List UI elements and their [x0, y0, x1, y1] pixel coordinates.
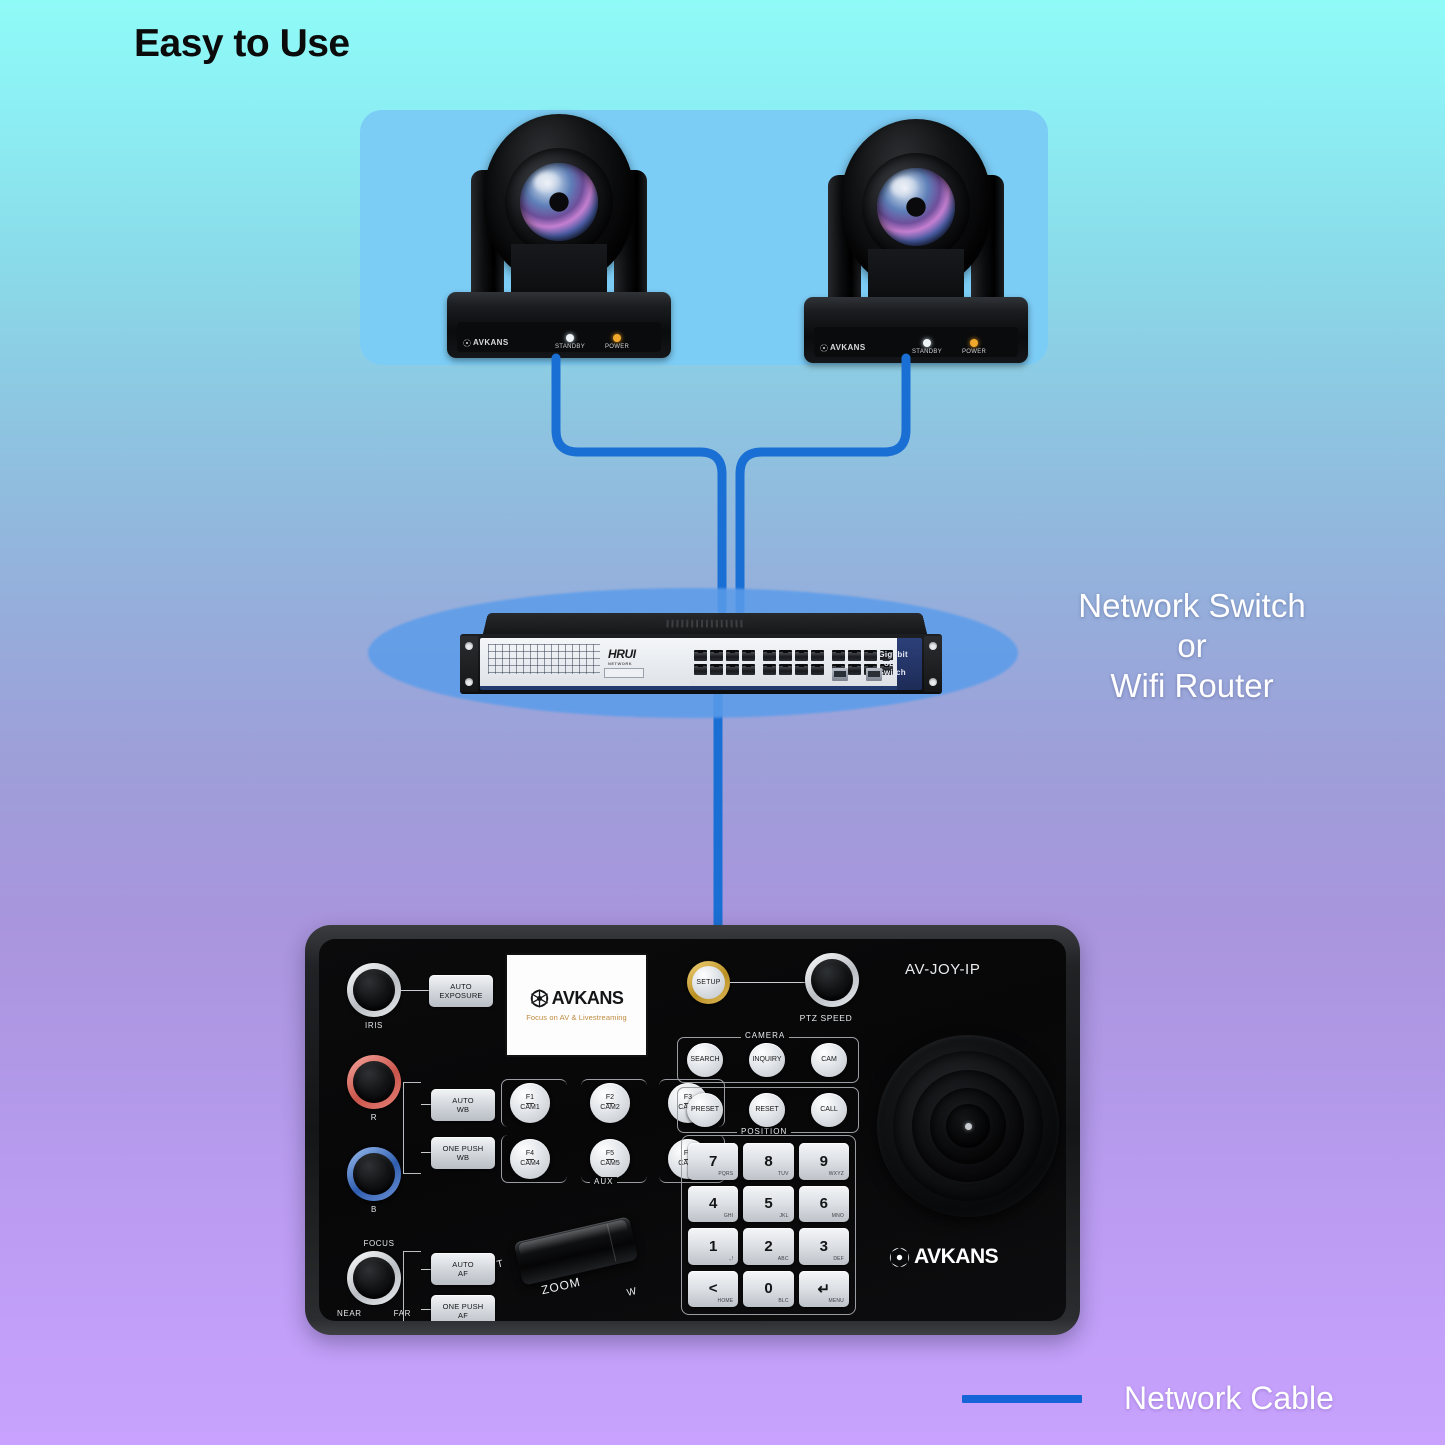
rj45-port[interactable] [694, 664, 707, 675]
knob-cap[interactable] [353, 1257, 395, 1299]
blue-gain-knob-group[interactable]: B [347, 1147, 401, 1214]
red-gain-knob-group[interactable]: R [347, 1055, 401, 1122]
switch-port-bank-2[interactable] [759, 638, 828, 690]
key-sublabel: WXYZ [829, 1171, 844, 1177]
btn-line-1: ONE PUSH [443, 1144, 484, 1153]
btn-line-1: AUTO [450, 982, 472, 991]
auto-af-button[interactable]: AUTO AF [431, 1253, 495, 1285]
key-digit: 3 [820, 1238, 828, 1255]
btn-line-2: WB [457, 1153, 469, 1162]
fn-den: CAM2 [600, 1104, 619, 1113]
fn-num: F1 [526, 1094, 534, 1104]
numeric-keypad[interactable]: 7PQRS 8TUV 9WXYZ 4GHI 5JKL 6MNO 1.,! 2AB… [681, 1135, 856, 1315]
reset-button[interactable]: RESET [749, 1093, 785, 1127]
function-button-f1[interactable]: F1 CAM1 [510, 1083, 550, 1123]
ptz-speed-label: PTZ SPEED [771, 1013, 881, 1023]
switch-port-bank-1[interactable] [690, 638, 759, 690]
rj45-port[interactable] [848, 650, 861, 661]
key-sublabel: JKL [779, 1213, 788, 1219]
key-9[interactable]: 9WXYZ [799, 1143, 849, 1180]
cam-button[interactable]: CAM [811, 1043, 847, 1077]
port-column[interactable] [694, 650, 707, 675]
key-2[interactable]: 2ABC [743, 1228, 793, 1265]
switch-led-matrix [488, 644, 600, 674]
key-sublabel: PQRS [718, 1171, 733, 1177]
key-sublabel: HOME [718, 1298, 734, 1304]
rj45-port[interactable] [795, 664, 808, 675]
btn-line-1: AUTO [452, 1260, 474, 1269]
camera-group-label: CAMERA [741, 1031, 789, 1040]
fn-num: F2 [606, 1094, 614, 1104]
iris-knob[interactable] [347, 963, 401, 1017]
rj45-port[interactable] [710, 650, 723, 661]
key-7[interactable]: 7PQRS [688, 1143, 738, 1180]
switch-rack-ear-right [924, 636, 942, 692]
call-button[interactable]: CALL [811, 1093, 847, 1127]
function-button-f5[interactable]: F5 CAM5 [590, 1139, 630, 1179]
switch-front-panel: HRUI NETWORK [480, 638, 922, 690]
key-sublabel: BLC [778, 1298, 788, 1304]
key-digit: < [709, 1280, 718, 1297]
auto-exposure-button[interactable]: AUTO EXPOSURE [429, 975, 493, 1007]
aperture-icon [530, 989, 549, 1008]
knob-cap[interactable] [353, 1153, 395, 1195]
lcd-brand-text: AVKANS [552, 988, 624, 1009]
rj45-port[interactable] [726, 664, 739, 675]
blue-gain-knob[interactable] [347, 1147, 401, 1201]
joystick-center-dot[interactable] [965, 1123, 972, 1130]
controller-brand-logo: AVKANS [889, 1245, 998, 1269]
key-0[interactable]: 0BLC [743, 1271, 793, 1308]
btn-line-1: ONE PUSH [443, 1302, 484, 1311]
port-column[interactable] [710, 650, 723, 675]
switch-rack-ear-left [460, 636, 478, 692]
setup-button[interactable]: SETUP [687, 961, 730, 1004]
port-column[interactable] [811, 650, 824, 675]
rj45-port[interactable] [811, 664, 824, 675]
key-digit: 4 [709, 1195, 717, 1212]
rj45-port[interactable] [779, 650, 792, 661]
rj45-port[interactable] [763, 664, 776, 675]
focus-knob-group[interactable]: FOCUS NEAR FAR [347, 1239, 411, 1318]
rack-hole [465, 642, 473, 650]
switch-vents [666, 620, 743, 628]
joystick-ring-3[interactable] [930, 1088, 1006, 1164]
ptz-joystick[interactable] [877, 1035, 1059, 1217]
wb-bracket [403, 1082, 421, 1174]
key-home[interactable]: <HOME [688, 1271, 738, 1308]
btn-line-2: EXPOSURE [439, 991, 482, 1000]
fn-num: F5 [606, 1150, 614, 1160]
iris-knob-label: IRIS [347, 1021, 401, 1030]
iris-knob-group[interactable]: IRIS [347, 963, 401, 1030]
cable-camera1-to-switch [556, 358, 722, 610]
zoom-tele-label: T [496, 1258, 504, 1270]
fn-den: CAM5 [600, 1160, 619, 1169]
focus-range-labels: NEAR FAR [337, 1309, 411, 1318]
key-sublabel: MENU [828, 1298, 844, 1304]
one-push-wb-button[interactable]: ONE PUSH WB [431, 1137, 495, 1169]
switch-panel-left: HRUI NETWORK [480, 638, 690, 690]
iris-lead-line [401, 990, 429, 991]
legend-cable-swatch [962, 1395, 1082, 1403]
key-6[interactable]: 6MNO [799, 1186, 849, 1223]
caption-line-3: Wifi Router [1032, 666, 1352, 706]
key-5[interactable]: 5JKL [743, 1186, 793, 1223]
controller-face-plate: IRIS AUTO EXPOSURE R B AUTO [319, 939, 1066, 1321]
port-column[interactable] [742, 650, 755, 675]
fn-num: F4 [526, 1150, 534, 1160]
lcd-brand-logo: AVKANS [530, 988, 624, 1009]
rj45-port[interactable] [779, 664, 792, 675]
ptz-speed-knob[interactable] [805, 953, 859, 1007]
caption-line-1: Network Switch [1032, 586, 1352, 626]
lcd-display: AVKANS Focus on AV & Livestreaming [505, 953, 648, 1057]
rack-hole [929, 678, 937, 686]
rj45-port[interactable] [742, 650, 755, 661]
controller-model-label: AV-JOY-IP [905, 961, 980, 978]
red-gain-knob[interactable] [347, 1055, 401, 1109]
legend: Network Cable [962, 1380, 1334, 1417]
rj45-port[interactable] [742, 664, 755, 675]
enter-icon: ↵ [818, 1280, 831, 1298]
rack-hole [929, 642, 937, 650]
rj45-port[interactable] [832, 650, 845, 661]
one-push-af-button[interactable]: ONE PUSH AF [431, 1295, 495, 1321]
fn-den: CAM1 [520, 1104, 539, 1113]
rj45-port[interactable] [710, 664, 723, 675]
caption-line-2: or [1032, 626, 1352, 666]
rj45-port[interactable] [726, 650, 739, 661]
rack-hole [465, 678, 473, 686]
btn-line-2: WB [457, 1105, 469, 1114]
fn-den: CAM4 [520, 1160, 539, 1169]
key-digit: 2 [764, 1238, 772, 1255]
network-switch-device: HRUI NETWORK [460, 612, 942, 694]
key-sublabel: MNO [832, 1213, 844, 1219]
diagram-canvas: Easy to Use AVKANS STANDBY [0, 0, 1445, 1445]
port-column[interactable] [848, 650, 861, 675]
rj45-port[interactable] [811, 650, 824, 661]
key-4[interactable]: 4GHI [688, 1186, 738, 1223]
sfp-port[interactable] [832, 668, 848, 681]
key-sublabel: GHI [724, 1213, 734, 1219]
port-column[interactable] [779, 650, 792, 675]
focus-knob-label: FOCUS [347, 1239, 411, 1248]
ptz-controller-device: IRIS AUTO EXPOSURE R B AUTO [305, 925, 1080, 1335]
ptz-speed-knob-group[interactable] [805, 953, 859, 1007]
knob-cap[interactable] [353, 969, 395, 1011]
switch-brand-subtext: NETWORK [608, 661, 636, 666]
rj45-port[interactable] [694, 650, 707, 661]
key-digit: 6 [820, 1195, 828, 1212]
red-gain-label: R [347, 1113, 401, 1122]
port-column[interactable] [726, 650, 739, 675]
joystick-ring-4[interactable] [946, 1104, 990, 1148]
key-digit: 1 [709, 1238, 717, 1255]
rj45-port[interactable] [763, 650, 776, 661]
legend-label: Network Cable [1124, 1380, 1334, 1417]
preset-button[interactable]: PRESET [687, 1093, 723, 1127]
sfp-port[interactable] [866, 668, 882, 681]
key-digit: 0 [764, 1280, 772, 1297]
auto-wb-button[interactable]: AUTO WB [431, 1089, 495, 1121]
btn-line-2: AF [458, 1269, 468, 1278]
switch-label-box [604, 668, 644, 678]
key-digit: 5 [764, 1195, 772, 1212]
setup-button-label: SETUP [692, 966, 725, 999]
switch-brand-logo: HRUI NETWORK [608, 647, 636, 666]
key-sublabel: DEF [833, 1256, 844, 1262]
knob-cap[interactable] [353, 1061, 395, 1103]
cable-camera2-to-switch [740, 358, 906, 610]
controller-brand-text: AVKANS [914, 1245, 998, 1269]
lcd-tagline: Focus on AV & Livestreaming [526, 1013, 627, 1022]
key-digit: 8 [764, 1153, 772, 1170]
switch-panel-right: Gigabit PoE Switch [897, 638, 922, 690]
zoom-wide-label: W [626, 1286, 638, 1299]
joystick-ring-1[interactable] [893, 1051, 1043, 1201]
network-switch-caption: Network Switch or Wifi Router [1032, 586, 1352, 706]
key-digit: 7 [709, 1153, 717, 1170]
inquiry-button[interactable]: INQUIRY [749, 1043, 785, 1077]
switch-brand-text: HRUI [608, 647, 636, 661]
rj45-port[interactable] [848, 664, 861, 675]
btn-line-1: AUTO [452, 1096, 474, 1105]
zoom-rocker-highlight [518, 1219, 628, 1255]
setup-ptz-lead [730, 982, 805, 983]
switch-model-label: Gigabit PoE Switch [878, 650, 908, 677]
key-sublabel: TUV [778, 1171, 789, 1177]
key-3[interactable]: 3DEF [799, 1228, 849, 1265]
key-8[interactable]: 8TUV [743, 1143, 793, 1180]
focus-knob[interactable] [347, 1251, 401, 1305]
joystick-ring-2[interactable] [912, 1070, 1024, 1182]
key-sublabel: ABC [778, 1256, 789, 1262]
rj45-port[interactable] [864, 650, 877, 661]
rj45-port[interactable] [795, 650, 808, 661]
key-sublabel: .,! [729, 1256, 734, 1262]
aux-group-label: AUX [590, 1177, 617, 1186]
function-button-f2[interactable]: F2 CAM2 [590, 1083, 630, 1123]
blue-gain-label: B [347, 1205, 401, 1214]
key-menu-enter[interactable]: ↵MENU [799, 1271, 849, 1308]
key-digit: 9 [820, 1153, 828, 1170]
port-column[interactable] [763, 650, 776, 675]
knob-cap[interactable] [811, 959, 853, 1001]
function-button-f4[interactable]: F4 CAM4 [510, 1139, 550, 1179]
aperture-icon [889, 1247, 910, 1268]
port-column[interactable] [795, 650, 808, 675]
search-button[interactable]: SEARCH [687, 1043, 723, 1077]
focus-near-label: NEAR [337, 1309, 362, 1318]
af-bracket [403, 1251, 421, 1321]
key-1[interactable]: 1.,! [688, 1228, 738, 1265]
btn-line-2: AF [458, 1311, 468, 1320]
